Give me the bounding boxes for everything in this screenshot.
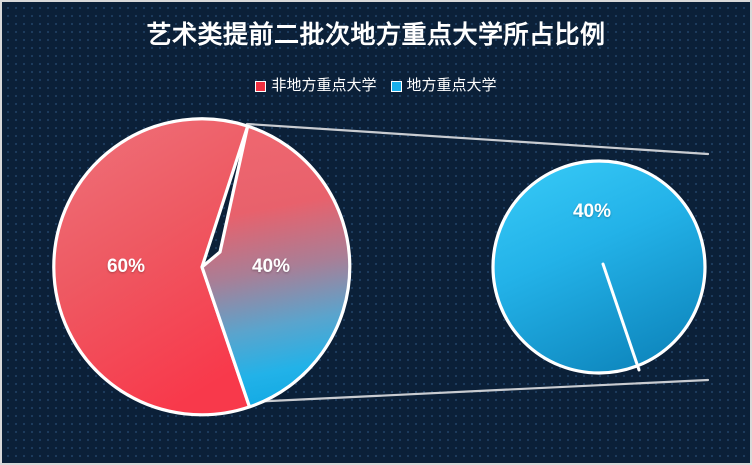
pie-graphics (2, 2, 752, 465)
connector-line-bottom (249, 380, 708, 402)
plot-area: 60% 40% 40% (2, 2, 750, 463)
connector-line-top (247, 124, 708, 154)
secondary-pie (493, 161, 705, 373)
pie-chart-figure: 艺术类提前二批次地方重点大学所占比例 非地方重点大学 地方重点大学 (0, 0, 752, 465)
primary-pie (54, 119, 350, 415)
secondary-slice-local-key-university[interactable] (493, 161, 705, 373)
